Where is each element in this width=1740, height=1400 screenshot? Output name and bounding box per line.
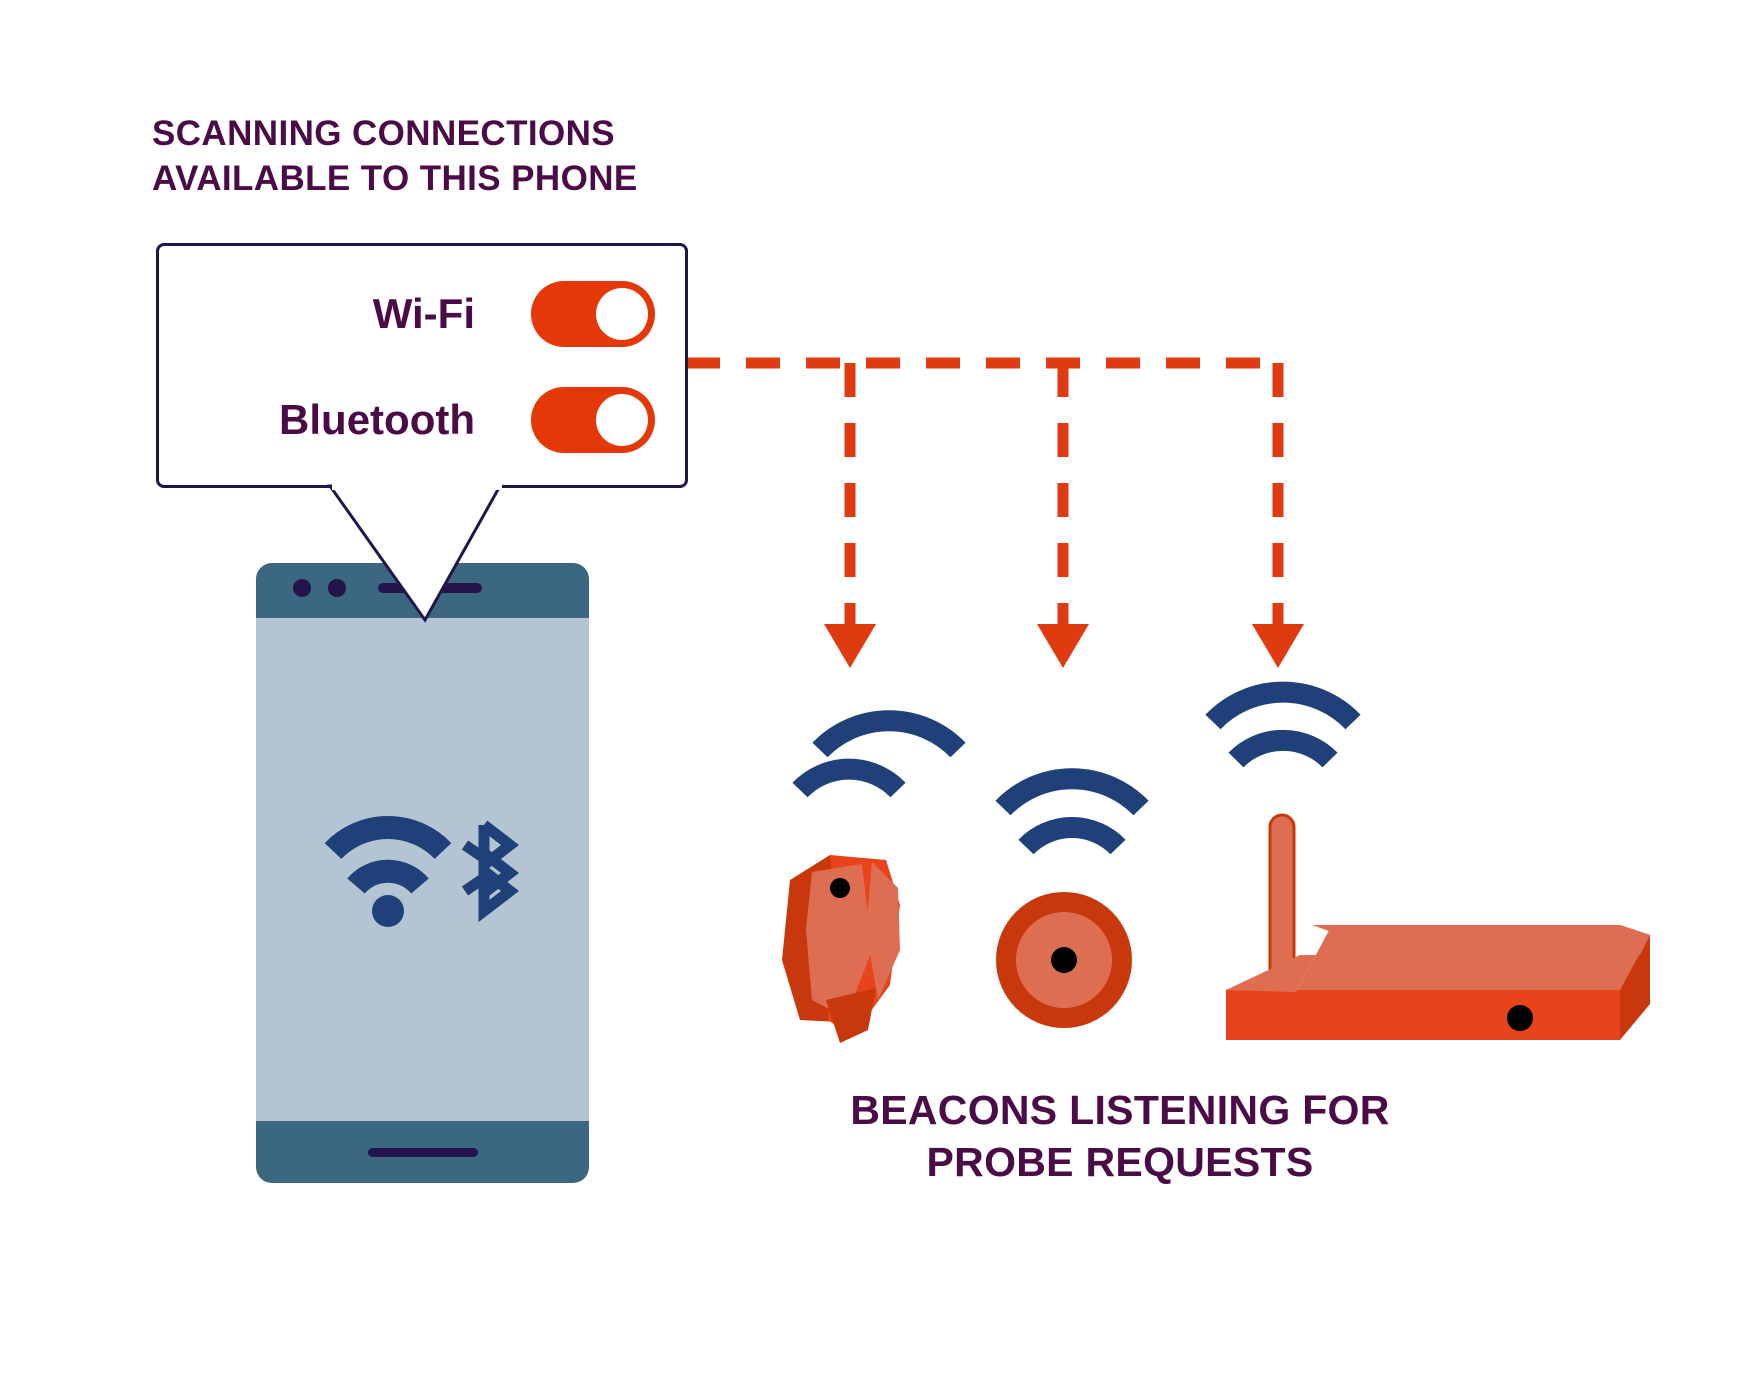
bubble-tail-shape (330, 486, 500, 620)
bubble-tail-mask (332, 478, 502, 490)
bubble-tail (0, 0, 1740, 1400)
diagram-canvas: SCANNING CONNECTIONS AVAILABLE TO THIS P… (0, 0, 1740, 1400)
